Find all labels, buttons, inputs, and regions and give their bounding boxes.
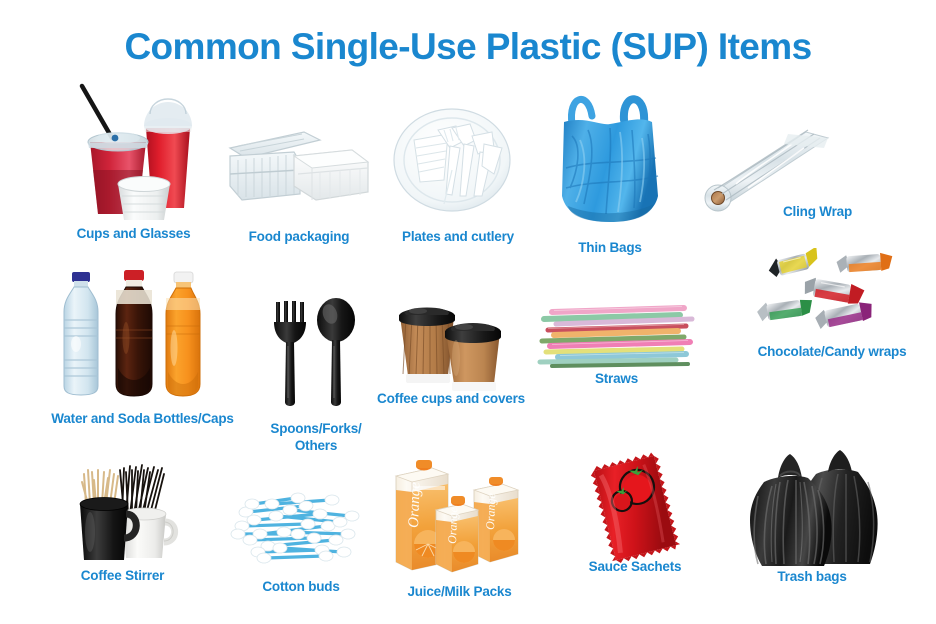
item-label-plates-and-cutlery: Plates and cutlery bbox=[372, 228, 544, 245]
item-straws[interactable]: Straws bbox=[534, 302, 699, 397]
juice-carton-packs-icon: Orange Orange bbox=[388, 458, 528, 573]
kraft-coffee-cups-with-lids-icon bbox=[388, 292, 513, 392]
item-cling-wrap[interactable]: Cling Wrap bbox=[688, 118, 908, 228]
item-label-coffee-cups-and-covers: Coffee cups and covers bbox=[366, 390, 536, 407]
clear-clamshell-containers-icon bbox=[224, 118, 374, 213]
item-label-thin-bags: Thin Bags bbox=[535, 239, 685, 256]
page-title: Common Single-Use Plastic (SUP) Items bbox=[0, 26, 936, 68]
svg-text:Orange: Orange bbox=[483, 492, 498, 530]
item-cups-and-glasses[interactable]: Cups and Glasses bbox=[60, 80, 205, 245]
item-label-chocolate-candy-wraps: Chocolate/Candy wraps bbox=[732, 343, 932, 360]
item-water-and-soda-bottles[interactable]: Water and Soda Bottles/Caps bbox=[52, 268, 232, 438]
item-label-juice-milk-packs: Juice/Milk Packs bbox=[377, 583, 542, 600]
item-juice-milk-packs[interactable]: Orange Orange bbox=[388, 458, 528, 603]
item-label-cups-and-glasses: Cups and Glasses bbox=[46, 225, 221, 242]
colored-drinking-straws-icon bbox=[534, 302, 699, 372]
stirrer-sticks-in-mugs-icon bbox=[62, 462, 182, 570]
svg-text:Orange: Orange bbox=[445, 506, 460, 544]
foil-candy-wrappers-icon bbox=[754, 248, 899, 348]
item-food-packaging[interactable]: Food packaging bbox=[224, 118, 374, 248]
item-label-spoons-forks-others: Spoons/Forks/ Others bbox=[246, 420, 386, 454]
infographic-page: Common Single-Use Plastic (SUP) Items bbox=[0, 0, 936, 624]
item-thin-bags[interactable]: Thin Bags bbox=[548, 84, 673, 254]
ketchup-sachet-icon bbox=[580, 448, 690, 568]
item-label-trash-bags: Trash bags bbox=[737, 568, 887, 585]
cotton-swabs-pile-icon bbox=[226, 490, 376, 570]
item-label-food-packaging: Food packaging bbox=[219, 228, 379, 245]
item-label-cling-wrap: Cling Wrap bbox=[783, 203, 908, 220]
item-label-cotton-buds: Cotton buds bbox=[216, 578, 386, 595]
white-plate-with-cutlery-icon bbox=[390, 108, 526, 212]
black-garbage-bags-icon bbox=[742, 448, 882, 573]
cling-film-roll-icon bbox=[688, 118, 833, 213]
item-label-coffee-stirrer: Coffee Stirrer bbox=[50, 567, 195, 584]
item-label-water-and-soda-bottles: Water and Soda Bottles/Caps bbox=[30, 410, 255, 427]
item-plates-and-cutlery[interactable]: Plates and cutlery bbox=[390, 108, 526, 248]
item-label-straws: Straws bbox=[544, 370, 689, 387]
item-spoons-forks-others[interactable]: Spoons/Forks/ Others bbox=[264, 298, 366, 468]
item-coffee-stirrer[interactable]: Coffee Stirrer bbox=[62, 462, 182, 597]
disposable-drink-cups-icon bbox=[60, 80, 205, 220]
item-coffee-cups-and-covers[interactable]: Coffee cups and covers bbox=[388, 292, 513, 417]
black-plastic-fork-and-spoon-icon bbox=[264, 298, 366, 410]
blue-plastic-shopping-bag-icon bbox=[548, 84, 673, 229]
plastic-beverage-bottles-icon bbox=[52, 268, 212, 400]
item-trash-bags[interactable]: Trash bags bbox=[742, 448, 882, 598]
item-sauce-sachets[interactable]: Sauce Sachets bbox=[580, 448, 690, 598]
item-label-sauce-sachets: Sauce Sachets bbox=[565, 558, 705, 575]
item-cotton-buds[interactable]: Cotton buds bbox=[226, 490, 376, 600]
item-chocolate-candy-wraps[interactable]: Chocolate/Candy wraps bbox=[740, 248, 930, 373]
